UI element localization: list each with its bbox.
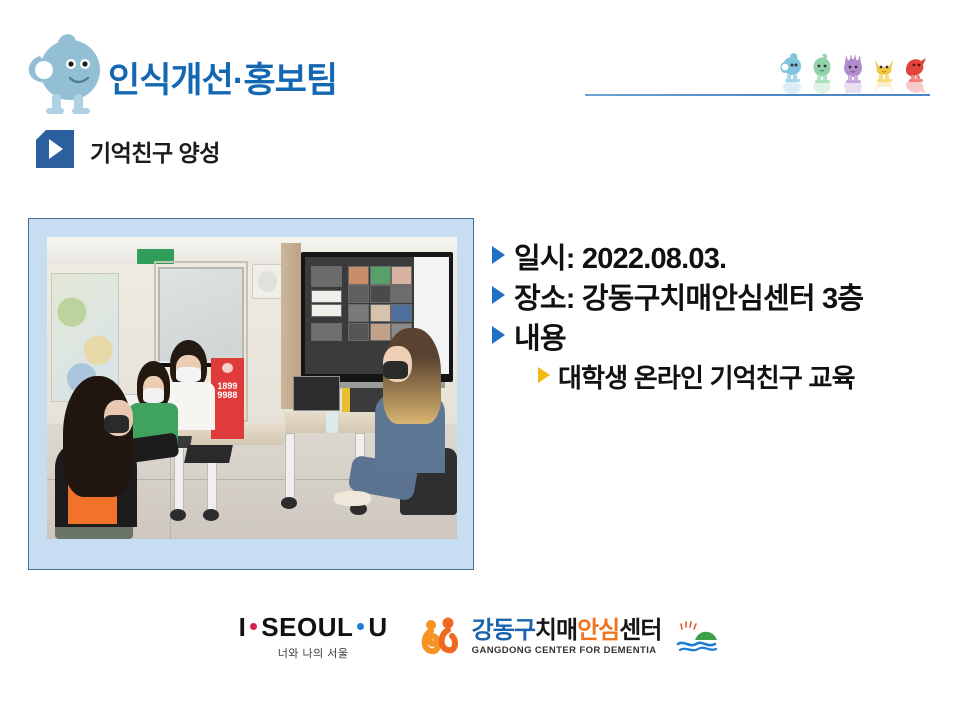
gangdong-logo-text: 강동구치매안심센터 GANGDONG CENTER FOR DEMENTIA [472, 619, 662, 656]
triangle-bullet-icon [492, 326, 505, 344]
bullet-item-content: 내용 [492, 322, 956, 356]
play-square-icon [36, 130, 74, 168]
photo-frame: 1899 9988 [28, 218, 474, 570]
bullet-item-date: 일시: 2022.08.03. [492, 242, 956, 276]
bullet-item-content-detail: 대학생 온라인 기억친구 교육 [538, 363, 956, 394]
seoul-logo-wordmark: I SEOUL U [239, 614, 388, 640]
footer-logos: I SEOUL U 너와 나의 서울 강동구치매안심센터 GANGDONG CE… [0, 606, 960, 668]
gangdong-logo-part2: 치매 [535, 617, 577, 644]
mascot-yellow-reflection-icon [871, 73, 897, 99]
gangdong-mark-icon [420, 617, 464, 657]
header-decoration [580, 44, 940, 124]
banner-number-line2: 9988 [211, 390, 244, 400]
seoul-logo-u: U [368, 614, 387, 640]
gangdong-emblem-icon [675, 620, 721, 654]
bullet-text: 장소: 강동구치매안심센터 3층 [514, 282, 863, 316]
classroom-photo: 1899 9988 [47, 237, 457, 539]
mascot-red-reflection-icon [902, 73, 928, 99]
triangle-bullet-sub-icon [538, 367, 550, 383]
header-mascot-icon [18, 26, 114, 118]
seoul-logo: I SEOUL U 너와 나의 서울 [239, 614, 388, 661]
gangdong-dementia-center-logo: 강동구치매안심센터 GANGDONG CENTER FOR DEMENTIA [420, 617, 722, 657]
slide-subtitle: 기억친구 양성 [90, 134, 220, 168]
gangdong-logo-part4: 센터 [619, 617, 661, 644]
gangdong-logo-part3: 안심 [577, 617, 619, 644]
person-photo [63, 376, 133, 497]
triangle-bullet-icon [492, 286, 505, 304]
laptop [293, 376, 340, 411]
seoul-logo-word: SEOUL [261, 614, 353, 640]
mascot-reflection [778, 73, 928, 99]
bullet-item-location: 장소: 강동구치매안심센터 3층 [492, 282, 956, 316]
mascot-blue-reflection-icon [778, 73, 804, 99]
red-standing-banner: 1899 9988 [211, 358, 244, 440]
seoul-logo-blue-dot-icon [357, 623, 364, 630]
gangdong-logo-part1: 강동구 [472, 617, 535, 644]
gangdong-logo-wordmark: 강동구치매안심센터 [472, 619, 662, 643]
mascot-purple-reflection-icon [840, 73, 866, 99]
page-title: 인식개선·홍보팀 [108, 52, 337, 103]
wall-speaker [252, 264, 283, 299]
seoul-logo-i: I [239, 614, 247, 640]
bullet-text: 내용 [514, 322, 566, 356]
bullet-list: 일시: 2022.08.03. 장소: 강동구치매안심센터 3층 내용 대학생 … [492, 242, 956, 399]
mouse-pad [184, 445, 233, 463]
mascot-green-reflection-icon [809, 73, 835, 99]
gangdong-logo-english: GANGDONG CENTER FOR DEMENTIA [472, 646, 662, 656]
banner-number-line1: 1899 [211, 381, 244, 391]
seoul-logo-red-dot-icon [250, 623, 257, 630]
seoul-logo-tagline: 너와 나의 서울 [239, 645, 388, 661]
bullet-text: 대학생 온라인 기억친구 교육 [558, 363, 855, 394]
play-triangle-icon [49, 139, 63, 159]
triangle-bullet-icon [492, 246, 505, 264]
bullet-text: 일시: 2022.08.03. [514, 242, 726, 276]
